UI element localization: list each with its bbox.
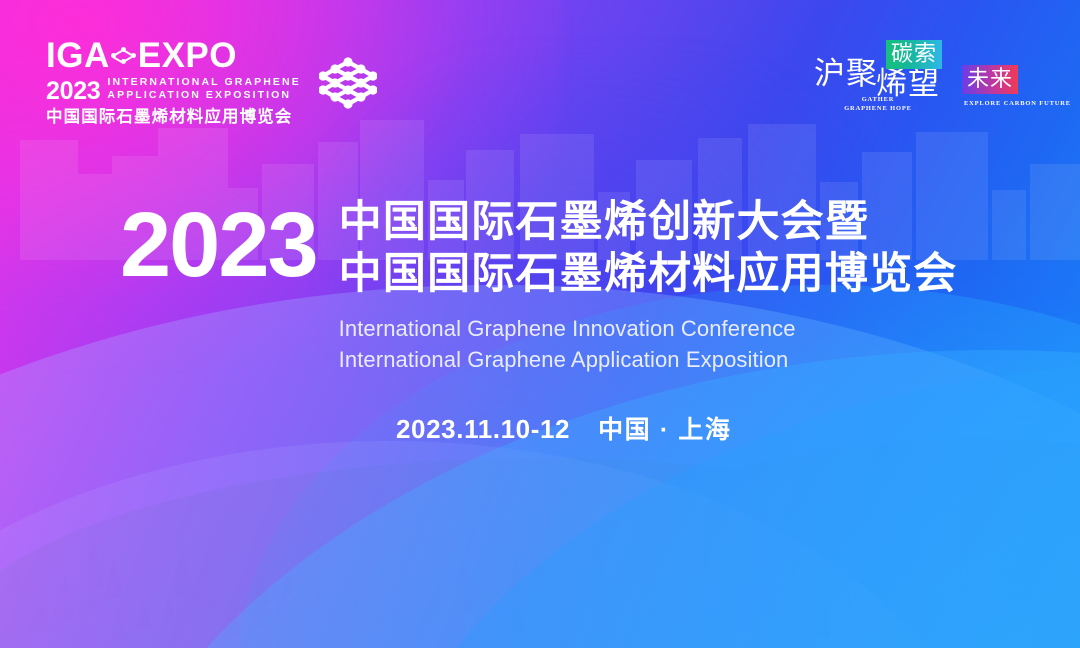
graphene-lattice-icon xyxy=(319,51,377,113)
headline-year: 2023 xyxy=(120,202,317,289)
wordmark-iga: IGA xyxy=(46,38,110,73)
expo-logo-english: INTERNATIONAL GRAPHENE APPLICATION EXPOS… xyxy=(107,77,300,104)
headline-titles: 中国国际石墨烯创新大会暨 中国国际石墨烯材料应用博览会 Internationa… xyxy=(339,196,958,375)
expo-logo-wordmark: IGA EXPO 2023 INTERNATIONAL GRAPHENE xyxy=(46,38,301,125)
expo-logo-chinese: 中国国际石墨烯材料应用博览会 xyxy=(46,109,301,126)
slogan-chars-hope: 烯望 xyxy=(876,68,940,99)
slogan-chip-carbon: 碳索 xyxy=(886,40,942,69)
slogan-chip-future: 未来 xyxy=(962,65,1018,94)
expo-logo[interactable]: IGA EXPO 2023 INTERNATIONAL GRAPHENE xyxy=(46,38,377,125)
molecular-link-icon xyxy=(111,45,137,67)
headline-block: 2023 中国国际石墨烯创新大会暨 中国国际石墨烯材料应用博览会 Interna… xyxy=(120,196,957,375)
event-slogan: 沪聚 烯望 碳索 未来 GATHER GRAPHENE HOPE EXPLORE… xyxy=(814,40,1046,118)
event-info-bar: 2023.11.10-12 中国 · 上海 xyxy=(396,410,732,446)
slogan-english-gather: GATHER GRAPHENE HOPE xyxy=(842,96,914,113)
headline-english: International Graphene Innovation Confer… xyxy=(339,313,958,375)
expo-logo-english-line1: INTERNATIONAL GRAPHENE xyxy=(107,77,300,89)
slogan-english-line1: GATHER xyxy=(862,96,895,103)
headline-en-line2: International Graphene Application Expos… xyxy=(339,344,958,375)
event-location: 中国 · 上海 xyxy=(598,410,731,446)
headline-cn-line1: 中国国际石墨烯创新大会暨 xyxy=(339,196,958,248)
event-banner: IGA EXPO 2023 INTERNATIONAL GRAPHENE xyxy=(0,0,1080,648)
expo-logo-english-line2: APPLICATION EXPOSITION xyxy=(107,90,300,102)
headline-en-line1: International Graphene Innovation Confer… xyxy=(339,313,958,344)
headline-cn-line2: 中国国际石墨烯材料应用博览会 xyxy=(339,248,958,300)
slogan-english-line2: GRAPHENE HOPE xyxy=(844,105,912,112)
event-date: 2023.11.10-12 xyxy=(396,414,570,445)
wordmark-expo: EXPO xyxy=(138,38,237,73)
expo-logo-year: 2023 xyxy=(46,79,100,104)
expo-logo-subrow: 2023 INTERNATIONAL GRAPHENE APPLICATION … xyxy=(46,77,301,104)
slogan-english-explore: EXPLORE CARBON FUTURE xyxy=(964,100,1071,109)
slogan-chars-gather: 沪聚 xyxy=(814,58,878,89)
iga-expo-wordmark: IGA EXPO xyxy=(46,38,301,73)
